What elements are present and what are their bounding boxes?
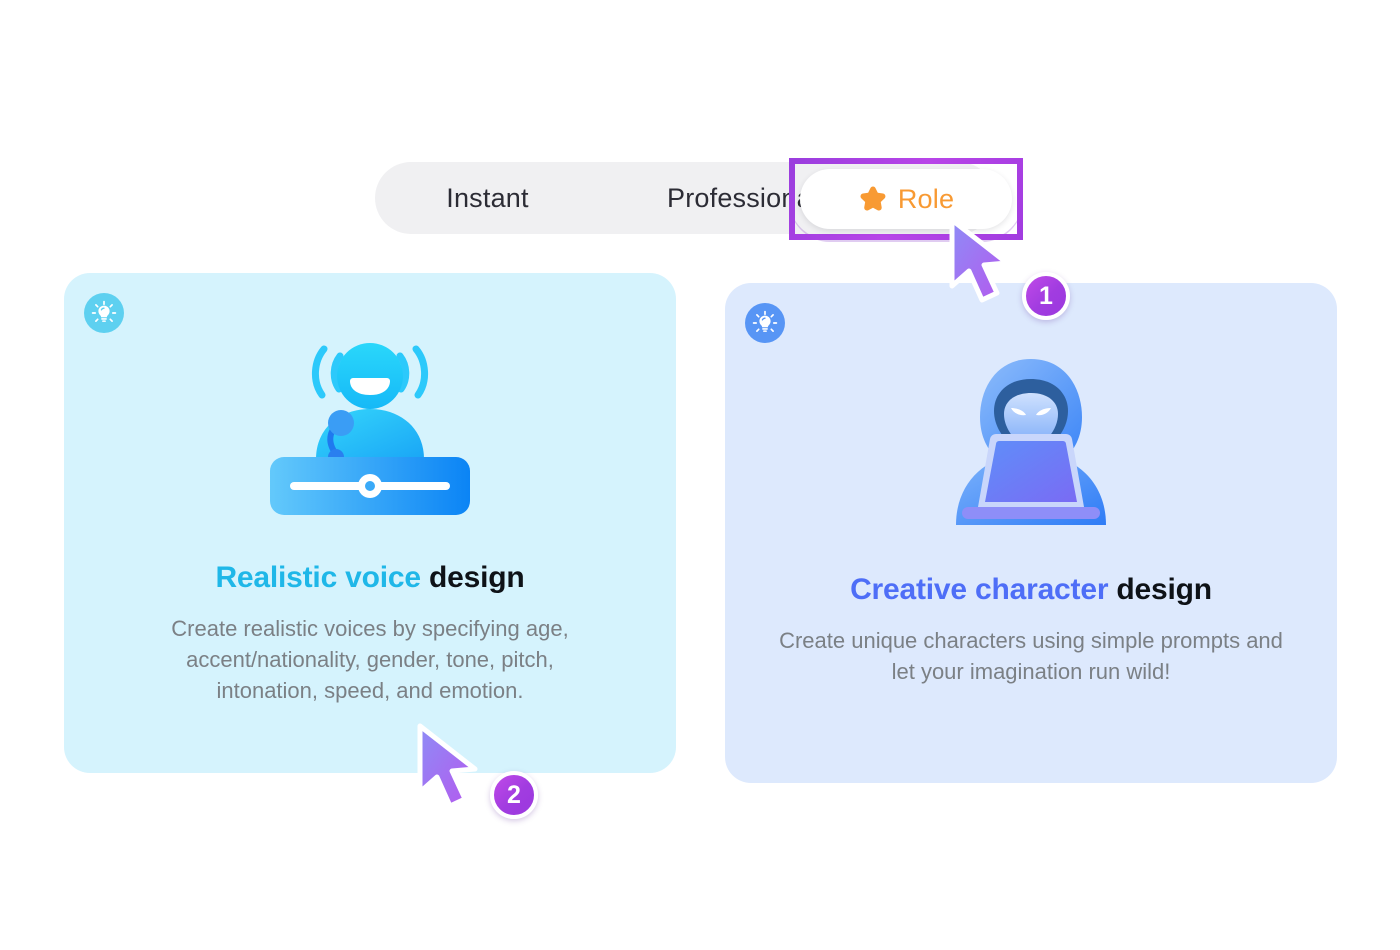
step-badge-1: 1 [1022, 272, 1070, 320]
card-title-rest: design [1108, 573, 1212, 606]
card-creative-character-design[interactable]: Creative character design Create unique … [725, 283, 1337, 783]
card-title-accent: Realistic voice [215, 561, 420, 594]
tab-role-label: Role [898, 184, 954, 215]
tab-instant[interactable]: Instant [375, 162, 600, 234]
star-icon [858, 184, 888, 214]
hooded-character-laptop-icon [725, 355, 1337, 535]
card-title-rest: design [421, 561, 525, 594]
page-root: Instant Professional Role [0, 0, 1400, 950]
card-title-accent: Creative character [850, 573, 1108, 606]
lightbulb-icon [84, 293, 124, 333]
step-badge-2: 2 [490, 771, 538, 819]
arrow-cursor-step-2 [412, 722, 488, 819]
card-description-realistic-voice: Create realistic voices by specifying ag… [148, 613, 592, 706]
arrow-cursor-step-1 [944, 216, 1020, 313]
card-realistic-voice-design[interactable]: Realistic voice design Create realistic … [64, 273, 676, 773]
card-description-creative-character: Create unique characters using simple pr… [777, 625, 1285, 687]
speaker-soundwave-slider-icon [64, 331, 676, 521]
lightbulb-icon [745, 303, 785, 343]
card-title-creative-character: Creative character design [725, 573, 1337, 607]
card-title-realistic-voice: Realistic voice design [64, 561, 676, 595]
